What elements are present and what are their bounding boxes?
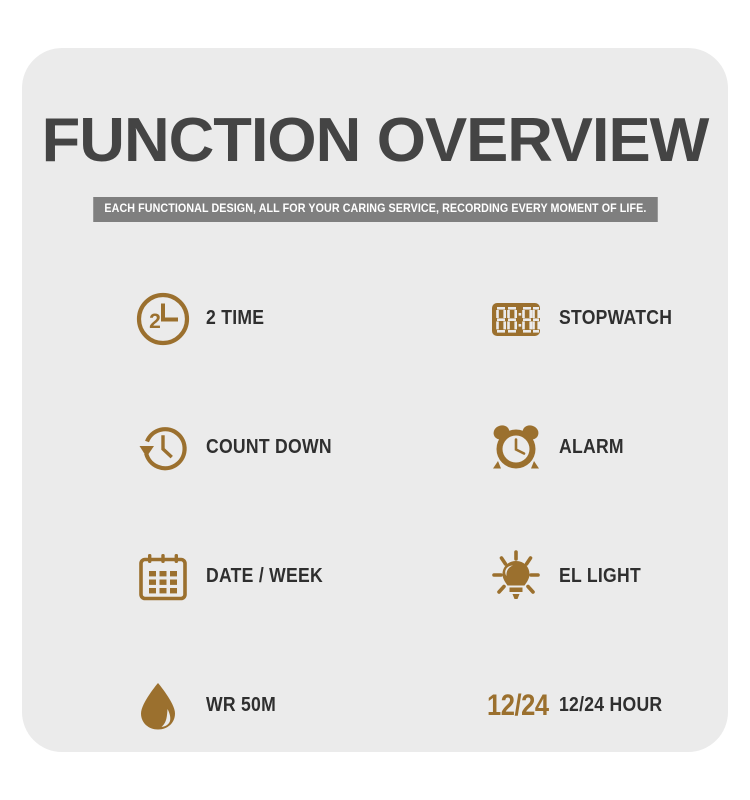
feature-label: ALARM	[559, 436, 624, 459]
water-drop-icon	[134, 675, 196, 737]
card-header: FUNCTION OVERVIEW EACH FUNCTIONAL DESIGN…	[22, 48, 728, 222]
twelve-twentyfour-text: 12/24	[487, 689, 549, 723]
feature-label: 12/24 HOUR	[559, 694, 662, 717]
twelve-twentyfour-text-icon: 12/24	[487, 675, 549, 737]
countdown-clock-icon	[134, 417, 196, 479]
alarm-clock-icon	[487, 417, 549, 479]
feature-item-stopwatch[interactable]: STOPWATCH	[375, 254, 728, 383]
feature-item-date-week[interactable]: DATE / WEEK	[22, 512, 375, 641]
feature-item-2-time[interactable]: 2 2 TIME	[22, 254, 375, 383]
feature-item-wr-50m[interactable]: WR 50M	[22, 641, 375, 770]
feature-grid: 2 2 TIME	[22, 254, 728, 770]
page-title: FUNCTION OVERVIEW	[15, 48, 735, 172]
feature-label: DATE / WEEK	[206, 565, 323, 588]
clock-2-icon: 2	[134, 288, 196, 350]
feature-item-el-light[interactable]: EL LIGHT	[375, 512, 728, 641]
feature-label: WR 50M	[206, 694, 276, 717]
feature-item-12-24-hour[interactable]: 12/24 12/24 HOUR	[375, 641, 728, 770]
svg-text:2: 2	[149, 310, 161, 333]
digital-display-icon	[487, 288, 549, 350]
feature-card: FUNCTION OVERVIEW EACH FUNCTIONAL DESIGN…	[22, 48, 728, 752]
feature-label: 2 TIME	[206, 307, 264, 330]
feature-label: STOPWATCH	[559, 307, 672, 330]
feature-label: COUNT DOWN	[206, 436, 332, 459]
feature-item-count-down[interactable]: COUNT DOWN	[22, 383, 375, 512]
feature-label: EL LIGHT	[559, 565, 641, 588]
subtitle-banner: EACH FUNCTIONAL DESIGN, ALL FOR YOUR CAR…	[93, 197, 657, 222]
function-overview-page: FUNCTION OVERVIEW EACH FUNCTIONAL DESIGN…	[0, 0, 750, 800]
feature-item-alarm[interactable]: ALARM	[375, 383, 728, 512]
lightbulb-icon	[487, 546, 549, 608]
calendar-icon	[134, 546, 196, 608]
